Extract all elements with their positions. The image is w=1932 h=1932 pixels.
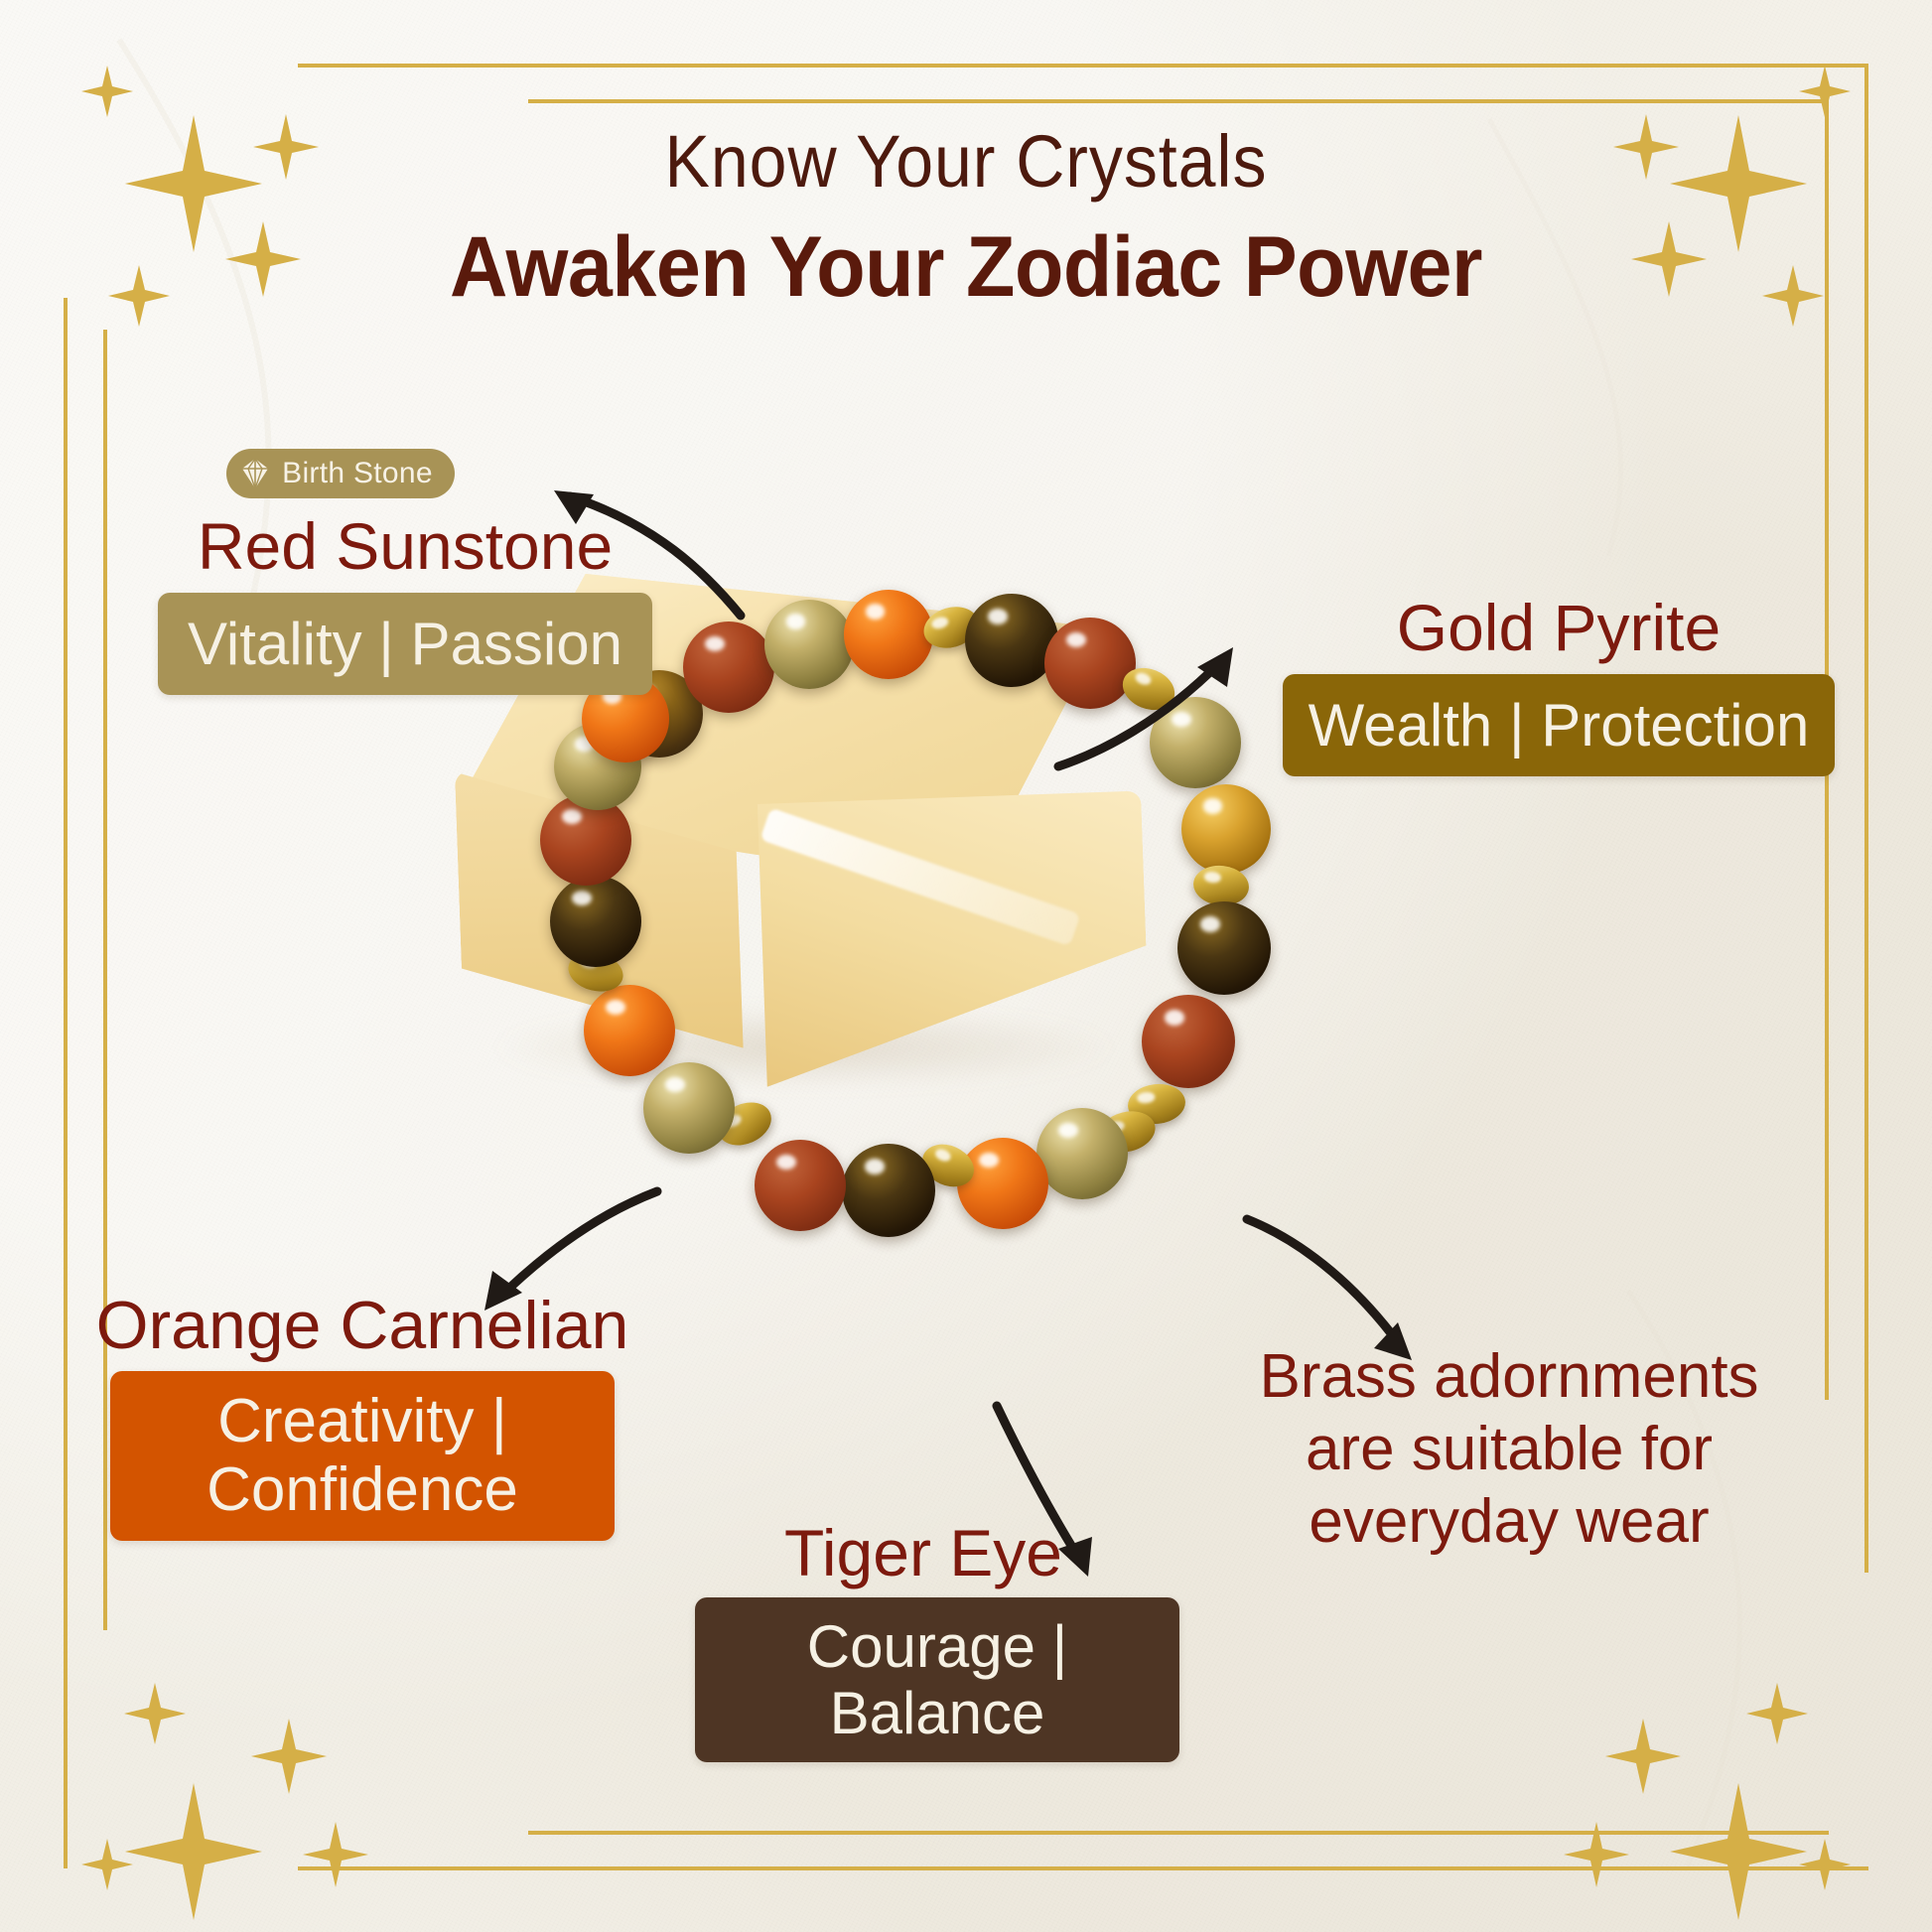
bead-gold-pyrite — [1150, 697, 1241, 788]
callout-name-orange-carnelian: Orange Carnelian — [69, 1291, 655, 1361]
brass-note-line: Brass adornments — [1221, 1340, 1797, 1413]
brass-note-line: everyday wear — [1221, 1485, 1797, 1558]
bead-tiger-eye — [550, 876, 641, 967]
bead-red-sunstone — [1044, 618, 1136, 709]
bead-orange-carnelian — [584, 985, 675, 1076]
callout-tag-line: Wealth | Protection — [1309, 692, 1810, 759]
sparkle-icon — [1664, 1777, 1813, 1926]
frame-line-bottom-outer — [298, 1866, 1868, 1870]
sparkle-icon — [77, 1835, 137, 1894]
frame-line-left-outer — [64, 298, 68, 1868]
callout-tag-line: Confidence — [134, 1455, 591, 1524]
birth-stone-badge: Birth Stone — [226, 449, 455, 498]
bead-red-sunstone — [755, 1140, 846, 1231]
bead-orange-carnelian — [957, 1138, 1048, 1229]
bead-gold-pyrite — [643, 1062, 735, 1154]
bead-red-sunstone — [1142, 995, 1235, 1088]
sparkle-icon — [1795, 1835, 1855, 1894]
bead-tiger-eye — [965, 594, 1058, 687]
bead-orange-carnelian — [844, 590, 933, 679]
callout-tag-line: Balance — [719, 1680, 1156, 1746]
callout-orange-carnelian: Orange Carnelian Creativity | Confidence — [69, 1291, 655, 1541]
callout-tag-red-sunstone: Vitality | Passion — [158, 593, 652, 695]
bead-gold-pyrite — [1036, 1108, 1128, 1199]
callout-tag-gold-pyrite: Wealth | Protection — [1283, 674, 1836, 776]
callout-tag-tiger-eye: Courage | Balance — [695, 1597, 1179, 1762]
callout-name-gold-pyrite: Gold Pyrite — [1281, 594, 1837, 662]
sparkle-icon — [1741, 1678, 1813, 1749]
frame-line-bottom-inner — [528, 1831, 1829, 1835]
sparkle-icon — [298, 1817, 373, 1892]
callout-tag-line: Vitality | Passion — [188, 611, 622, 677]
header: Know Your Crystals Awaken Your Zodiac Po… — [0, 125, 1932, 310]
page-eyebrow: Know Your Crystals — [77, 125, 1855, 199]
callout-name-red-sunstone: Red Sunstone — [147, 512, 663, 581]
callout-tag-line: Creativity | — [134, 1387, 591, 1455]
callout-tag-line: Courage | — [719, 1613, 1156, 1680]
bead-red-sunstone — [683, 621, 774, 713]
sparkle-icon — [1559, 1817, 1634, 1892]
bead-tiger-eye — [842, 1144, 935, 1237]
bead-gold-pyrite — [764, 600, 854, 689]
callout-tag-orange-carnelian: Creativity | Confidence — [110, 1371, 615, 1541]
sparkle-icon — [246, 1714, 332, 1799]
sparkle-icon — [77, 62, 137, 121]
bead-tiger-eye — [1181, 784, 1271, 874]
sparkle-icon — [1600, 1714, 1686, 1799]
callout-brass-note: Brass adornments are suitable for everyd… — [1221, 1340, 1797, 1558]
birth-stone-badge-label: Birth Stone — [282, 457, 433, 490]
frame-line-top-inner — [528, 99, 1829, 103]
bead-tiger-eye — [1177, 901, 1271, 995]
callout-tiger-eye: Tiger Eye Courage | Balance — [695, 1519, 1152, 1762]
sparkle-icon — [119, 1678, 191, 1749]
callout-name-tiger-eye: Tiger Eye — [695, 1519, 1152, 1587]
sparkle-icon — [119, 1777, 268, 1926]
page-title: Awaken Your Zodiac Power — [58, 224, 1873, 310]
frame-line-top-outer — [298, 64, 1868, 68]
gem-icon — [238, 457, 272, 490]
callout-red-sunstone: Birth Stone Red Sunstone Vitality | Pass… — [147, 449, 663, 695]
callout-gold-pyrite: Gold Pyrite Wealth | Protection — [1281, 594, 1837, 776]
brass-note-line: are suitable for — [1221, 1413, 1797, 1485]
